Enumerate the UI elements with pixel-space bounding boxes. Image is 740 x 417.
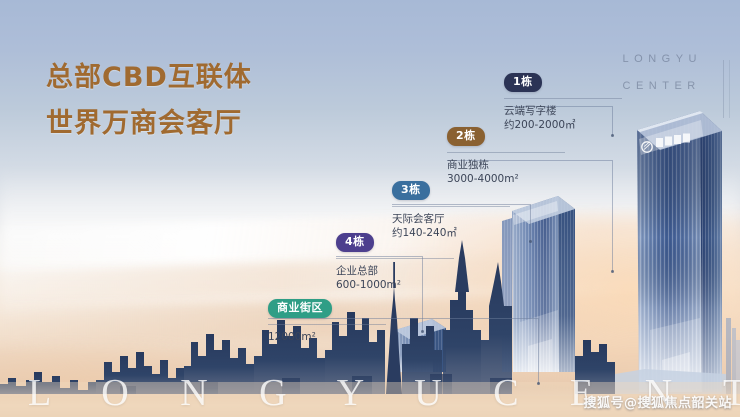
- tower-main: [615, 111, 726, 394]
- callout-5-badge: 商业街区: [268, 299, 332, 318]
- brand-logo: LONGYU CENTER: [623, 46, 702, 100]
- callout-tower-1: 1栋 云端写字楼 约200-2000㎡: [504, 72, 622, 132]
- headline-line-2: 世界万商会客厅: [46, 101, 252, 147]
- headline-line-1: 总部CBD互联体: [46, 55, 252, 101]
- callout-3-badge: 3栋: [392, 181, 430, 200]
- source-watermark: 搜狐号@搜狐焦点韶关站: [583, 392, 732, 411]
- callout-2-rule: [447, 152, 565, 153]
- callout-commercial-street: 商业街区 12000m²: [268, 298, 386, 344]
- callout-tower-3: 3栋 天际会客厅 约140-240㎡: [392, 180, 510, 240]
- connector-dot-5: [537, 382, 540, 385]
- logo-divider-2: [729, 60, 730, 118]
- logo-line-1: LONGYU: [623, 46, 702, 73]
- callout-4-badge: 4栋: [336, 233, 374, 252]
- callout-2-title: 商业独栋: [447, 158, 565, 172]
- callout-5-rule: [268, 324, 386, 325]
- connector-dot-3: [529, 240, 532, 243]
- connector-line-5-v: [538, 318, 539, 384]
- callout-4-area: 600-1000m²: [336, 278, 454, 292]
- logo-line-2: CENTER: [623, 73, 702, 100]
- callout-4-rule: [336, 258, 454, 259]
- callout-5-area: 12000m²: [268, 330, 386, 344]
- connector-dot-2: [611, 270, 614, 273]
- page-title: 总部CBD互联体 世界万商会客厅: [46, 55, 252, 147]
- connector-line-3-v: [530, 204, 531, 242]
- callout-tower-2: 2栋 商业独栋 3000-4000m²: [447, 126, 565, 186]
- callout-1-title: 云端写字楼: [504, 104, 622, 118]
- logo-divider-1: [723, 60, 724, 118]
- connector-dot-1: [611, 134, 614, 137]
- callout-2-badge: 2栋: [447, 127, 485, 146]
- callout-tower-4: 4栋 企业总部 600-1000m²: [336, 232, 454, 292]
- callout-3-title: 天际会客厅: [392, 212, 510, 226]
- callout-3-rule: [392, 206, 510, 207]
- callout-1-rule: [504, 98, 622, 99]
- connector-line-2-v: [612, 160, 613, 272]
- callout-5-text: 12000m²: [268, 330, 386, 344]
- callout-4-title: 企业总部: [336, 264, 454, 278]
- callout-1-badge: 1栋: [504, 73, 542, 92]
- poster-canvas: L O N G Y U C E N T E R LONGYU CENTER 总部…: [0, 0, 740, 417]
- connector-dot-4: [421, 330, 424, 333]
- callout-4-text: 企业总部 600-1000m²: [336, 264, 454, 292]
